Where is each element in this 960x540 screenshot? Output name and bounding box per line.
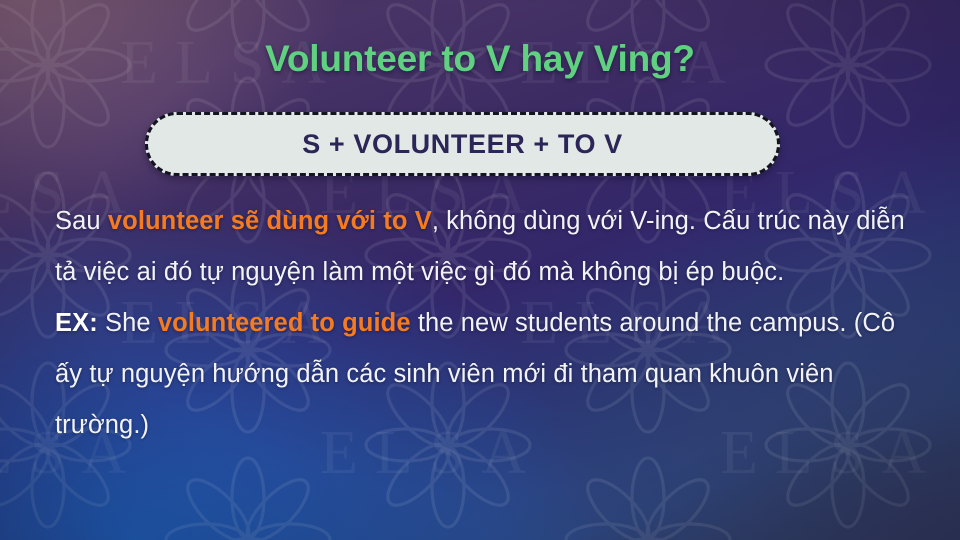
page-title: Volunteer to V hay Ving?: [0, 38, 960, 80]
body-text-block: Sau volunteer sẽ dùng với to V, không dù…: [55, 196, 915, 451]
formula-badge-label: S + VOLUNTEER + TO V: [302, 129, 623, 160]
example-highlight: volunteered to guide: [158, 309, 411, 337]
example-before: She: [98, 309, 158, 337]
slide-canvas: ELSA ELSA ELSA ELSA ELSA ELSA ELSA ELSA …: [0, 0, 960, 540]
explanation-paragraph: Sau volunteer sẽ dùng với to V, không dù…: [55, 196, 915, 298]
example-label: EX:: [55, 309, 98, 337]
formula-badge: S + VOLUNTEER + TO V: [145, 112, 780, 176]
example-paragraph: EX: She volunteered to guide the new stu…: [55, 298, 915, 451]
explanation-lead: Sau: [55, 207, 108, 235]
slide-content: Volunteer to V hay Ving? S + VOLUNTEER +…: [0, 0, 960, 540]
explanation-highlight: volunteer sẽ dùng với to V: [108, 207, 432, 235]
